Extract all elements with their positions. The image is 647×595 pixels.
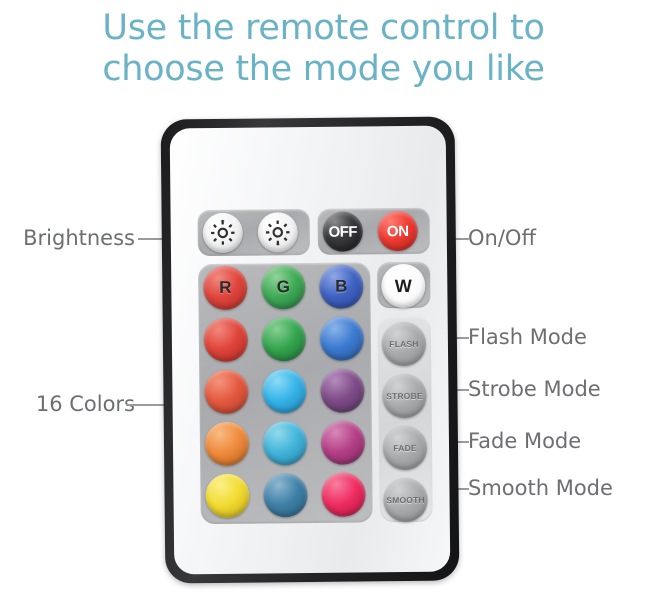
color-button-magenta[interactable] xyxy=(321,420,365,464)
fade-mode-button[interactable]: FADE xyxy=(383,426,427,470)
brightness-up-button[interactable] xyxy=(203,213,243,253)
white-button[interactable]: W xyxy=(381,264,425,308)
red-button-label: R xyxy=(219,278,231,298)
callout-strobe-mode: Strobe Mode xyxy=(468,377,601,401)
callout-fade-mode: Fade Mode xyxy=(468,429,581,453)
green-button[interactable]: G xyxy=(261,265,305,309)
page-title: Use the remote control to choose the mod… xyxy=(0,8,647,90)
leader-line-flash-mode xyxy=(455,337,469,339)
color-button-orange[interactable] xyxy=(205,422,249,466)
color-button-sky-blue[interactable] xyxy=(262,369,306,413)
on-button[interactable]: ON xyxy=(378,211,418,251)
sun-dim-icon xyxy=(265,219,291,245)
smooth-mode-button[interactable]: SMOOTH xyxy=(383,478,427,522)
leader-line-on-off xyxy=(455,238,469,240)
callout-brightness: Brightness xyxy=(23,226,135,250)
color-button-red-2[interactable] xyxy=(204,318,248,362)
color-button-cyan[interactable] xyxy=(263,421,307,465)
off-button[interactable]: OFF xyxy=(323,211,363,251)
off-button-label: OFF xyxy=(328,223,357,240)
brightness-down-button[interactable] xyxy=(258,212,298,252)
white-button-label: W xyxy=(395,275,412,296)
color-button-yellow[interactable] xyxy=(205,474,249,518)
fade-mode-button-label: FADE xyxy=(393,443,417,453)
green-button-label: G xyxy=(277,277,290,297)
callout-16-colors: 16 Colors xyxy=(36,392,135,416)
color-button-green-2[interactable] xyxy=(262,317,306,361)
flash-mode-button-label: FLASH xyxy=(389,339,418,349)
callout-smooth-mode: Smooth Mode xyxy=(468,476,613,500)
color-button-purple[interactable] xyxy=(320,368,364,412)
color-button-blue-2[interactable] xyxy=(320,316,364,360)
color-button-steel-blue[interactable] xyxy=(263,473,307,517)
strobe-mode-button[interactable]: STROBE xyxy=(382,374,426,418)
remote-face-panel: OFF ON R G B W FLASH xyxy=(170,126,451,575)
strobe-mode-button-label: STROBE xyxy=(386,391,423,401)
sun-bright-icon xyxy=(210,220,236,246)
flash-mode-button[interactable]: FLASH xyxy=(382,322,426,366)
blue-button[interactable]: B xyxy=(319,264,363,308)
on-button-label: ON xyxy=(387,222,409,239)
callout-on-off: On/Off xyxy=(468,226,536,250)
remote-control-body: OFF ON R G B W FLASH xyxy=(161,116,460,583)
smooth-mode-button-label: SMOOTH xyxy=(386,495,425,505)
color-button-orange-red[interactable] xyxy=(204,370,248,414)
blue-button-label: B xyxy=(335,277,347,297)
red-button[interactable]: R xyxy=(203,266,247,310)
color-button-pink[interactable] xyxy=(321,472,365,516)
callout-flash-mode: Flash Mode xyxy=(468,325,587,349)
